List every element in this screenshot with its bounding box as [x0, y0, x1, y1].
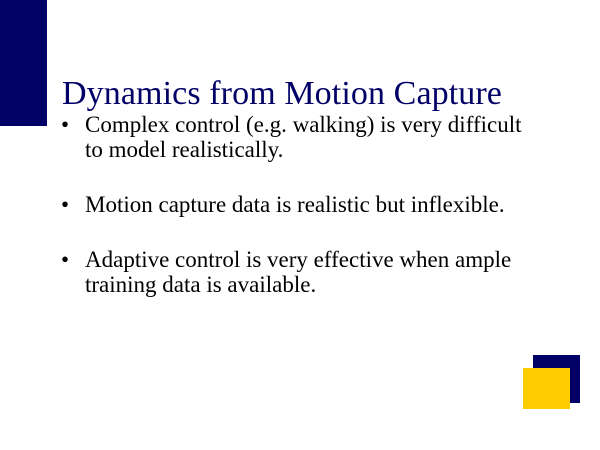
list-item: • Motion capture data is realistic but i…	[58, 192, 538, 217]
bullet-dot-icon: •	[61, 247, 79, 272]
bullet-list: • Complex control (e.g. walking) is very…	[58, 112, 538, 297]
list-item-text: Adaptive control is very effective when …	[85, 247, 537, 297]
bullet-dot-icon: •	[61, 192, 79, 217]
page-title: Dynamics from Motion Capture	[62, 74, 562, 114]
list-item-text: Motion capture data is realistic but inf…	[85, 192, 537, 217]
list-item: • Adaptive control is very effective whe…	[58, 247, 538, 297]
slide-canvas: Dynamics from Motion Capture • Complex c…	[0, 0, 600, 450]
decorative-square-gold	[523, 368, 570, 409]
bullet-dot-icon: •	[61, 112, 79, 137]
top-left-accent-bar	[0, 0, 47, 126]
list-item: • Complex control (e.g. walking) is very…	[58, 112, 538, 162]
list-item-text: Complex control (e.g. walking) is very d…	[85, 112, 537, 162]
